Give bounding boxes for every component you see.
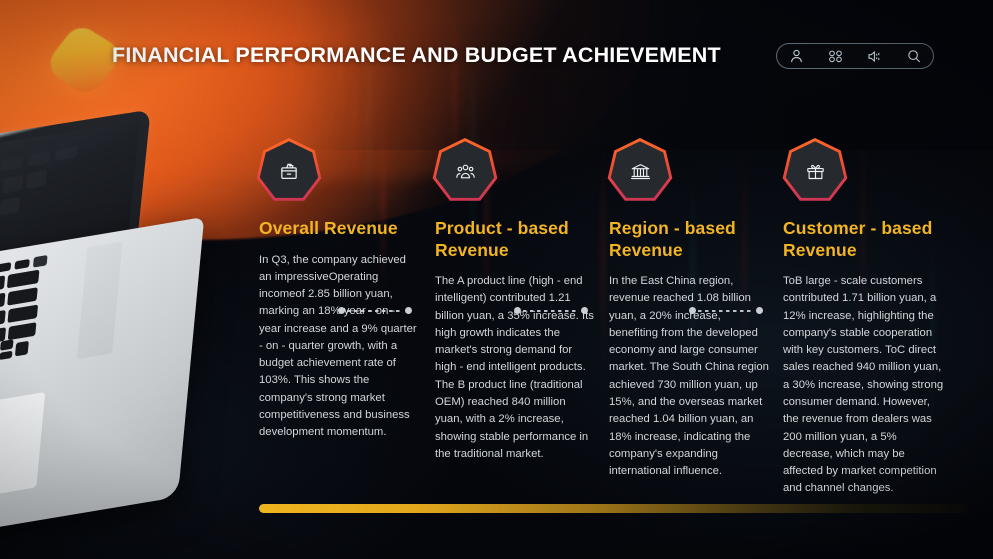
column-region-based-revenue: Region - based Revenue In the East China… — [609, 218, 769, 480]
column-heading: Region - based Revenue — [609, 218, 769, 261]
user-icon[interactable] — [786, 48, 808, 64]
column-body: In the East China region, revenue reache… — [609, 273, 769, 480]
column-heading: Overall Revenue — [259, 218, 417, 240]
step-node-4[interactable] — [782, 138, 848, 204]
slide-canvas: FINANCIAL PERFORMANCE AND BUDGET ACHIEVE… — [0, 0, 993, 559]
column-body: In Q3, the company achieved an impressiv… — [259, 252, 417, 442]
volume-icon[interactable] — [864, 48, 886, 64]
header-toolbar[interactable] — [776, 43, 934, 69]
step-node-1[interactable] — [256, 138, 322, 204]
column-overall-revenue: Overall Revenue In Q3, the company achie… — [259, 218, 417, 442]
gold-progress-bar — [259, 504, 968, 513]
step-node-2[interactable] — [432, 138, 498, 204]
page-title: FINANCIAL PERFORMANCE AND BUDGET ACHIEVE… — [112, 43, 721, 68]
search-icon[interactable] — [903, 48, 925, 64]
column-product-based-revenue: Product - based Revenue The A product li… — [435, 218, 595, 463]
grid-apps-icon[interactable] — [825, 48, 847, 64]
column-body: The A product line (high - end intellige… — [435, 273, 595, 463]
column-heading: Product - based Revenue — [435, 218, 595, 261]
column-body: ToB large - scale customers contributed … — [783, 273, 946, 498]
step-node-3[interactable] — [607, 138, 673, 204]
column-customer-based-revenue: Customer - based Revenue ToB large - sca… — [783, 218, 946, 498]
column-heading: Customer - based Revenue — [783, 218, 946, 261]
process-step-row — [0, 138, 993, 204]
